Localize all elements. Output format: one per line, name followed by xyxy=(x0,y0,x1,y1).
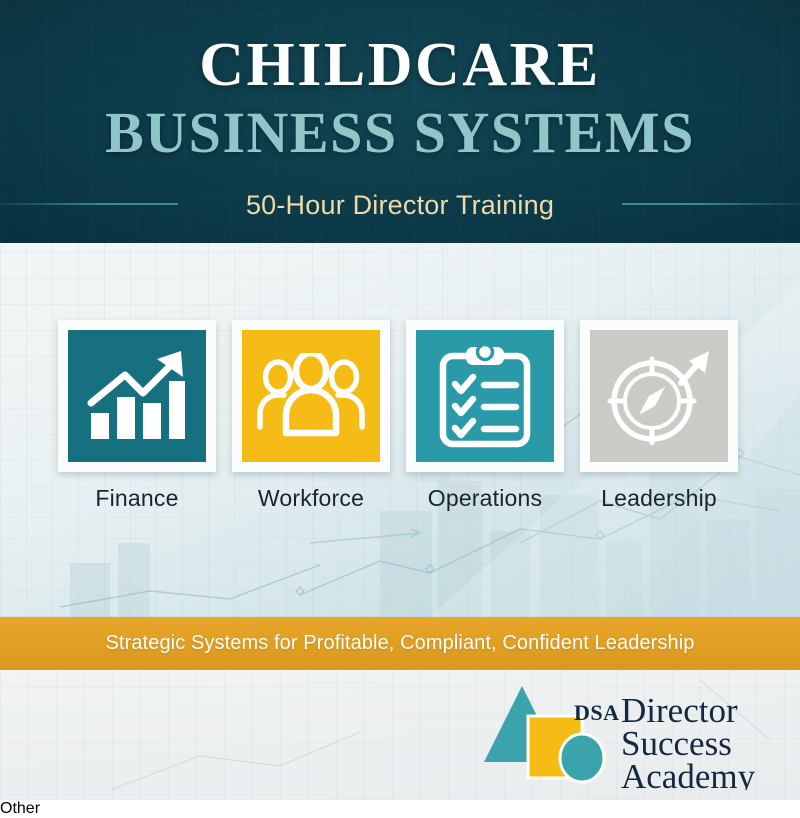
card-tile xyxy=(416,330,554,462)
page-title-line1: CHILDCARE xyxy=(0,34,800,96)
card-frame xyxy=(232,320,390,472)
pillar-card-workforce[interactable]: Workforce xyxy=(232,320,390,512)
logo-abbr: DSA xyxy=(574,700,620,725)
tagline-banner: Strategic Systems for Profitable, Compli… xyxy=(0,617,800,670)
card-frame xyxy=(58,320,216,472)
card-frame xyxy=(406,320,564,472)
logo-line3: Academy xyxy=(621,757,756,790)
pillar-card-operations[interactable]: Operations xyxy=(406,320,564,512)
card-tile xyxy=(242,330,380,462)
people-group-icon xyxy=(256,353,366,439)
compass-arrow-icon xyxy=(605,345,713,447)
pillar-label: Operations xyxy=(406,485,564,512)
pillar-label: Workforce xyxy=(232,485,390,512)
subtitle-text: 50-Hour Director Training xyxy=(0,186,800,224)
pillar-label: Leadership xyxy=(580,485,738,512)
pillar-card-leadership[interactable]: Leadership xyxy=(580,320,738,512)
pillar-card-list: Finance xyxy=(0,243,800,617)
clipboard-checklist-icon xyxy=(438,344,532,448)
middle-panel: Finance xyxy=(0,243,800,617)
header-band: CHILDCARE BUSINESS SYSTEMS 50-Hour Direc… xyxy=(0,0,800,243)
page-title-line2: BUSINESS SYSTEMS xyxy=(0,104,800,162)
subtitle-row: 50-Hour Director Training xyxy=(0,186,800,224)
card-frame xyxy=(580,320,738,472)
pillar-label: Finance xyxy=(58,485,216,512)
logo-circle-shape xyxy=(560,734,604,782)
card-tile xyxy=(590,330,728,462)
poster-canvas: CHILDCARE BUSINESS SYSTEMS 50-Hour Direc… xyxy=(0,0,800,800)
dsa-logo-svg: DSA Director Success Academy xyxy=(466,682,766,790)
tagline-text: Strategic Systems for Profitable, Compli… xyxy=(0,617,800,670)
card-tile xyxy=(68,330,206,462)
bar-chart-growth-icon xyxy=(85,347,189,445)
dsa-logo[interactable]: DSA Director Success Academy xyxy=(466,682,766,790)
pillar-card-finance[interactable]: Finance xyxy=(58,320,216,512)
